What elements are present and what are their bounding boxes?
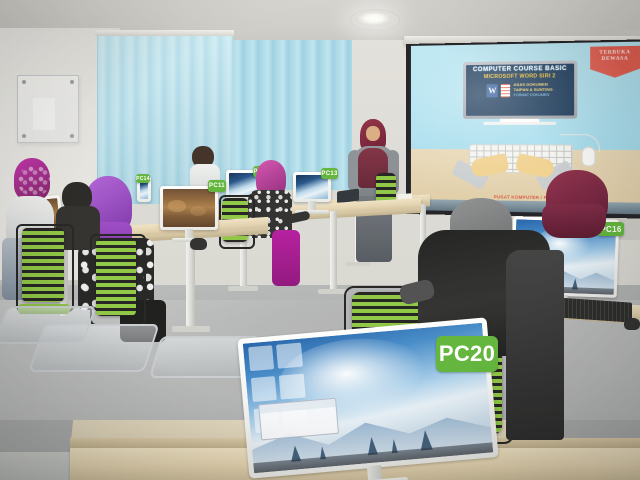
hijab-drape-right [542, 204, 606, 238]
instructor-face [366, 126, 380, 141]
slide-bullet-2: TAIPAN & SUNTING [514, 87, 553, 92]
document-icon [501, 83, 510, 96]
desktop-icon[interactable] [251, 376, 278, 403]
desktop-icon[interactable] [248, 345, 275, 372]
slide-subheading: MICROSOFT WORD SIRI 2 [484, 73, 556, 81]
sign-pin [70, 80, 74, 84]
student-shawl [506, 250, 564, 440]
slide-monitor-illustration: COMPUTER COURSE BASIC MICROSOFT WORD SIR… [463, 60, 577, 118]
sign-pin [70, 134, 74, 138]
sign-paper [33, 98, 55, 130]
student-trousers [272, 230, 300, 286]
wall-acrylic-sign [17, 75, 79, 143]
slide-mouse-icon [582, 147, 596, 167]
mouse-front-left [190, 238, 207, 250]
slide-bullet-3: FORMAT DOKUMEN [514, 93, 553, 98]
ribbon-line-2: DEWASA [601, 57, 628, 64]
ceiling-downlight-icon [356, 12, 392, 26]
desk-leg-foot [228, 286, 258, 291]
desktop-window[interactable] [258, 398, 340, 441]
pc-tag-pc20: PC20 [436, 336, 498, 372]
word-app-icon: W [487, 84, 498, 97]
chair-sled-base-2 [0, 306, 97, 344]
slide-monitor-base [483, 122, 556, 125]
classroom-photo: COMPUTER COURSE BASIC MICROSOFT WORD SIR… [0, 0, 640, 480]
pc-tag-pc13: PC13 [321, 168, 338, 179]
sign-pin [22, 80, 26, 84]
desk-leg-foot [345, 262, 371, 266]
desktop-icon[interactable] [276, 343, 303, 370]
mouse-right [624, 318, 640, 330]
blinds-rail [95, 30, 234, 36]
desktop-icon[interactable] [279, 373, 306, 400]
sign-pin [22, 134, 26, 138]
desk-leg [330, 211, 337, 291]
pc-tag-pc14: PC14 [136, 174, 150, 183]
hijab-pattern [18, 166, 50, 196]
workstation-monitor-pc11 [160, 186, 218, 230]
pc-tag-pc11: PC11 [208, 180, 226, 192]
desk-leg-foot [172, 326, 210, 332]
